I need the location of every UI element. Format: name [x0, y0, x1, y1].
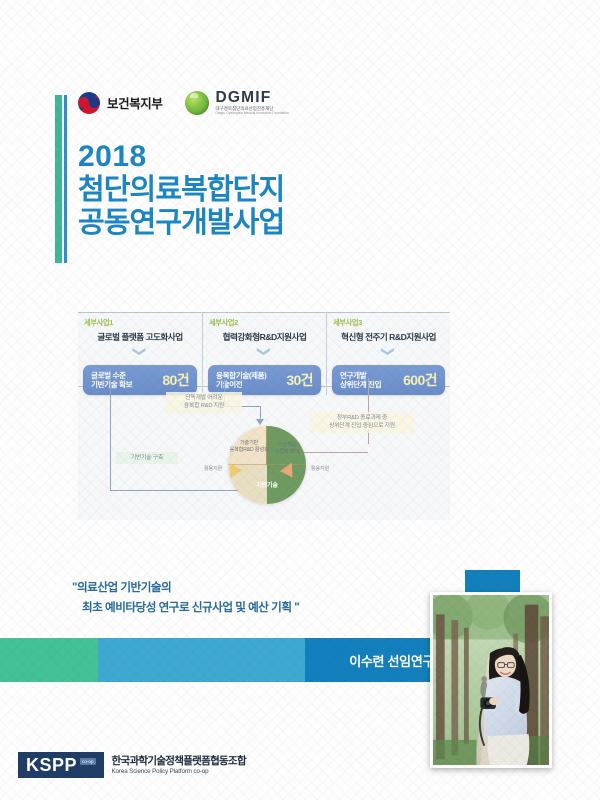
kspp-brand-box: KSPP co-op [18, 752, 104, 778]
dgmif-leaf-icon [185, 91, 209, 115]
diagram-flow-area: 단독개발 어려운 융복합 R&D 지원 정부R&D 종료과제 중 상위단계 진입… [78, 386, 450, 520]
program-structure-diagram: 세부사업1 글로벌 플랫폼 고도화사업 ❯ 글로벌 수준 기반기술 확보 80건… [78, 312, 450, 520]
taegeuk-icon [78, 92, 100, 114]
logo-mohw: 보건복지부 [78, 92, 163, 114]
accent-bar-blue [64, 95, 67, 263]
diagram-column-3: 세부사업3 혁신형 전주기 R&D지원사업 ❯ 연구개발 상위단계 진입 600… [326, 312, 450, 395]
diagram-columns: 세부사업1 글로벌 플랫폼 고도화사업 ❯ 글로벌 수준 기반기술 확보 80건… [78, 312, 450, 395]
flow-note-line-1: 단독개발 어려운 [185, 395, 222, 401]
kspp-org-korean: 한국과학기술정책플랫폼협동조합 [112, 755, 246, 767]
logo-dgmif-english: Daegu-Gyeongbuk Medical Innovation Found… [216, 112, 289, 115]
title-line-2: 공동연구개발사업 [78, 207, 284, 240]
pie-label-left-segment: 기술기반 융복합R&D 활성화 [229, 440, 269, 455]
flow-note-build-base-tech: 기반기술 구축 [116, 452, 178, 464]
logo-dgmif-text: DGMIF 대구경북첨단의료산업진흥재단 Daegu-Gyeongbuk Med… [216, 90, 289, 115]
page-title: 2018 첨단의료복합단지 공동연구개발사업 [78, 140, 284, 240]
highlight-quote: "의료산업 기반기술의 최초 예비타당성 연구로 신규사업 및 예산 기획 " [72, 578, 299, 619]
forest-path-portrait-illustration [433, 595, 549, 765]
band-segment-green [0, 638, 98, 682]
band-segment-cyan [98, 638, 305, 682]
footer-logo: KSPP co-op 한국과학기술정책플랫폼협동조합 Korea Science… [18, 752, 246, 778]
title-year: 2018 [78, 140, 284, 174]
logo-dgmif: DGMIF 대구경북첨단의료산업진흥재단 Daegu-Gyeongbuk Med… [185, 90, 289, 115]
title-accent-bars [55, 95, 67, 263]
accent-bar-green [55, 95, 62, 263]
pie-label-right-segment: 기술제품 사업화 확대 [270, 442, 304, 457]
flow-connector-2c [260, 406, 261, 420]
logo-mohw-label: 보건복지부 [107, 93, 163, 112]
slide-page: 보건복지부 DGMIF 대구경북첨단의료산업진흥재단 Daegu-Gyeongb… [0, 0, 600, 800]
flow-note-support-difficult-rnd: 단독개발 어려운 융복합 R&D 지원 [166, 392, 242, 413]
pie-label-use-right: 활용지원 [302, 466, 338, 473]
title-line-1: 첨단의료복합단지 [78, 174, 284, 207]
presenter-band: 이수련 선임연구원 [0, 638, 490, 682]
quote-line-2: 최초 예비타당성 연구로 신규사업 및 예산 기획 " [72, 598, 299, 618]
flow-note-government-rnd: 정부R&D 종료과제 중 상위단계 진입 중심으로 지원 [310, 412, 414, 433]
pie-label-line-1: 기술제품 [278, 442, 296, 448]
kspp-brand-text: KSPP [26, 756, 77, 774]
arrow-down-icon [256, 419, 264, 425]
pie-label-line-1: 기술기반 [240, 440, 258, 446]
kspp-org-names: 한국과학기술정책플랫폼협동조합 Korea Science Policy Pla… [112, 755, 246, 775]
kspp-coop-tag: co-op [80, 758, 96, 765]
pie-label-line-2: 융복합R&D 활성화 [229, 447, 268, 453]
flow-note-line-2: 상위단계 진입 중심으로 지원 [329, 423, 395, 429]
flow-connector-3 [368, 378, 369, 444]
pie-label-line-2: 사업화 확대 [275, 449, 299, 455]
pie-label-base: 기반기술 [239, 482, 295, 490]
presenter-photo [430, 592, 552, 768]
flow-note-line-2: 융복합 R&D 지원 [184, 403, 224, 409]
quote-line-1: "의료산업 기반기술의 [72, 578, 299, 598]
flow-connector-1 [110, 378, 111, 490]
logo-dgmif-acronym: DGMIF [216, 90, 289, 106]
metric-label-line-1: 연구개발 [340, 371, 366, 380]
flow-note-line-1: 정부R&D 종료과제 중 [337, 415, 387, 421]
diagram-column-2: 세부사업2 협력강화형R&D지원사업 ❯ 융복합기술(제품) 기술이전 30건 [202, 312, 326, 395]
logo-row: 보건복지부 DGMIF 대구경북첨단의료산업진흥재단 Daegu-Gyeongb… [78, 90, 289, 115]
kspp-org-english: Korea Science Policy Platform co-op [112, 768, 246, 775]
pie-label-use-left: 활용지원 [195, 466, 231, 473]
metric-label-line-1: 글로벌 수준 [91, 371, 126, 380]
diagram-column-1: 세부사업1 글로벌 플랫폼 고도화사업 ❯ 글로벌 수준 기반기술 확보 80건 [78, 312, 202, 395]
